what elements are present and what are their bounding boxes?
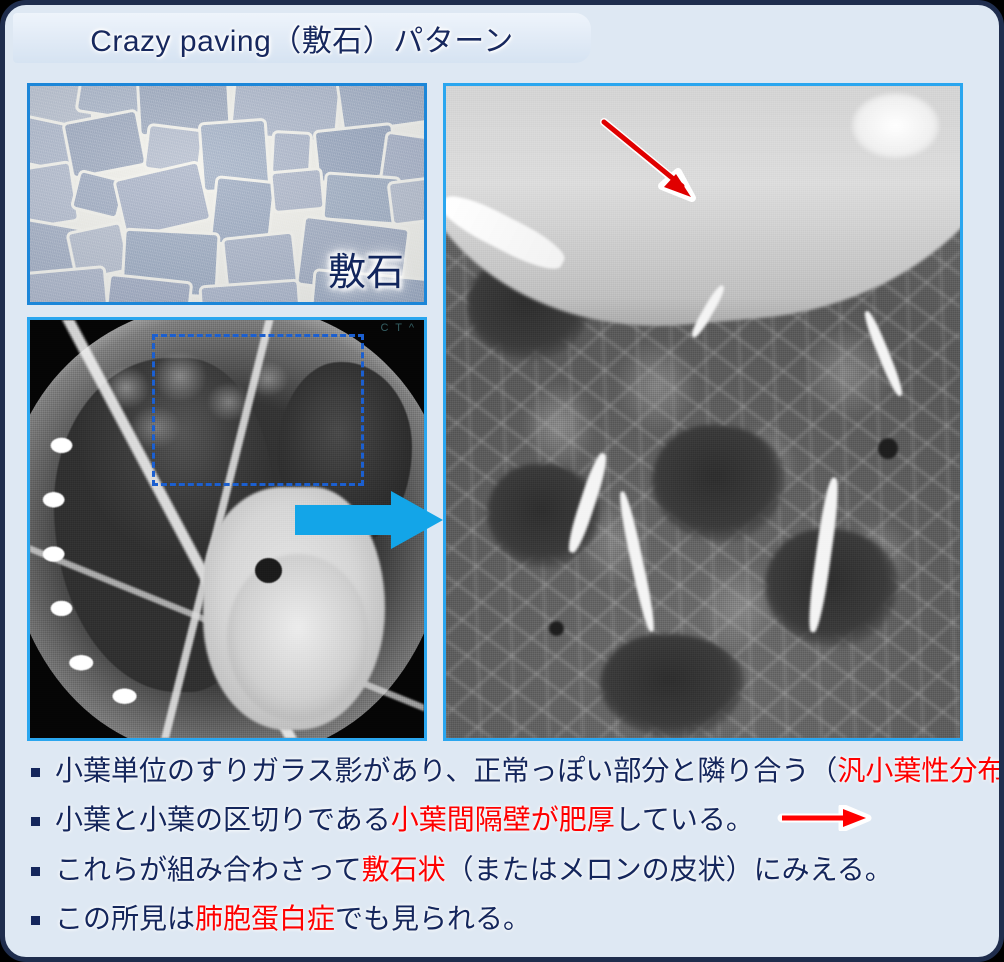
bullet-segment: でも見られる。 [335, 903, 531, 934]
roi-dashed-box [152, 334, 364, 486]
slide-title-bar: Crazy paving（敷石）パターン [13, 13, 591, 63]
bullet-text: 小葉単位のすりガラス影があり、正常っぽい部分と隣り合う（汎小葉性分布という） [55, 753, 1004, 789]
bullet-segment: この所見は [55, 903, 195, 934]
page-title: Crazy paving（敷石）パターン [90, 16, 514, 60]
bullet-segment: している。 [615, 804, 754, 835]
list-item: 小葉単位のすりガラス影があり、正常っぽい部分と隣り合う（汎小葉性分布という） [31, 753, 985, 789]
bullet-segment: 小葉単位のすりガラス影があり、正常っぽい部分と隣り合う（ [55, 755, 837, 786]
bullet-segment: （またはメロンの皮状）にみえる。 [446, 854, 893, 885]
slide-root: Crazy paving（敷石）パターン [0, 0, 1004, 962]
bullet-segment-highlight: 敷石状 [362, 854, 446, 885]
stone-photo-panel: 敷石 [27, 83, 427, 305]
ct-watermark: C T ^ [380, 322, 416, 334]
bullet-marker-icon [31, 916, 40, 925]
bullet-text: これらが組み合わさって敷石状（またはメロンの皮状）にみえる。 [55, 852, 893, 888]
list-item: 小葉と小葉の区切りである小葉間隔壁が肥厚している。 [31, 802, 985, 840]
bullet-segment-highlight: 汎小葉性分布 [837, 755, 1004, 786]
magnify-arrow-icon [295, 489, 443, 551]
red-pointer-arrow-icon [596, 114, 726, 214]
ct-magnified-panel [443, 83, 963, 741]
bullet-segment: これらが組み合わさって [55, 854, 362, 885]
bullet-text: この所見は肺胞蛋白症でも見られる。 [55, 901, 531, 937]
list-item: この所見は肺胞蛋白症でも見られる。 [31, 901, 985, 937]
list-item: これらが組み合わさって敷石状（またはメロンの皮状）にみえる。 [31, 852, 985, 888]
bullet-marker-icon [31, 768, 40, 777]
bullet-list: 小葉単位のすりガラス影があり、正常っぽい部分と隣り合う（汎小葉性分布という） 小… [31, 753, 985, 950]
inline-red-arrow-icon [776, 804, 872, 840]
bullet-marker-icon [31, 817, 40, 826]
bullet-segment: 小葉と小葉の区切りである [55, 804, 391, 835]
bullet-segment-highlight: 小葉間隔壁が肥厚 [391, 804, 615, 835]
bullet-segment-highlight: 肺胞蛋白症 [195, 903, 335, 934]
bullet-text: 小葉と小葉の区切りである小葉間隔壁が肥厚している。 [55, 802, 872, 840]
bullet-marker-icon [31, 867, 40, 876]
stone-photo-label: 敷石 [320, 241, 412, 296]
